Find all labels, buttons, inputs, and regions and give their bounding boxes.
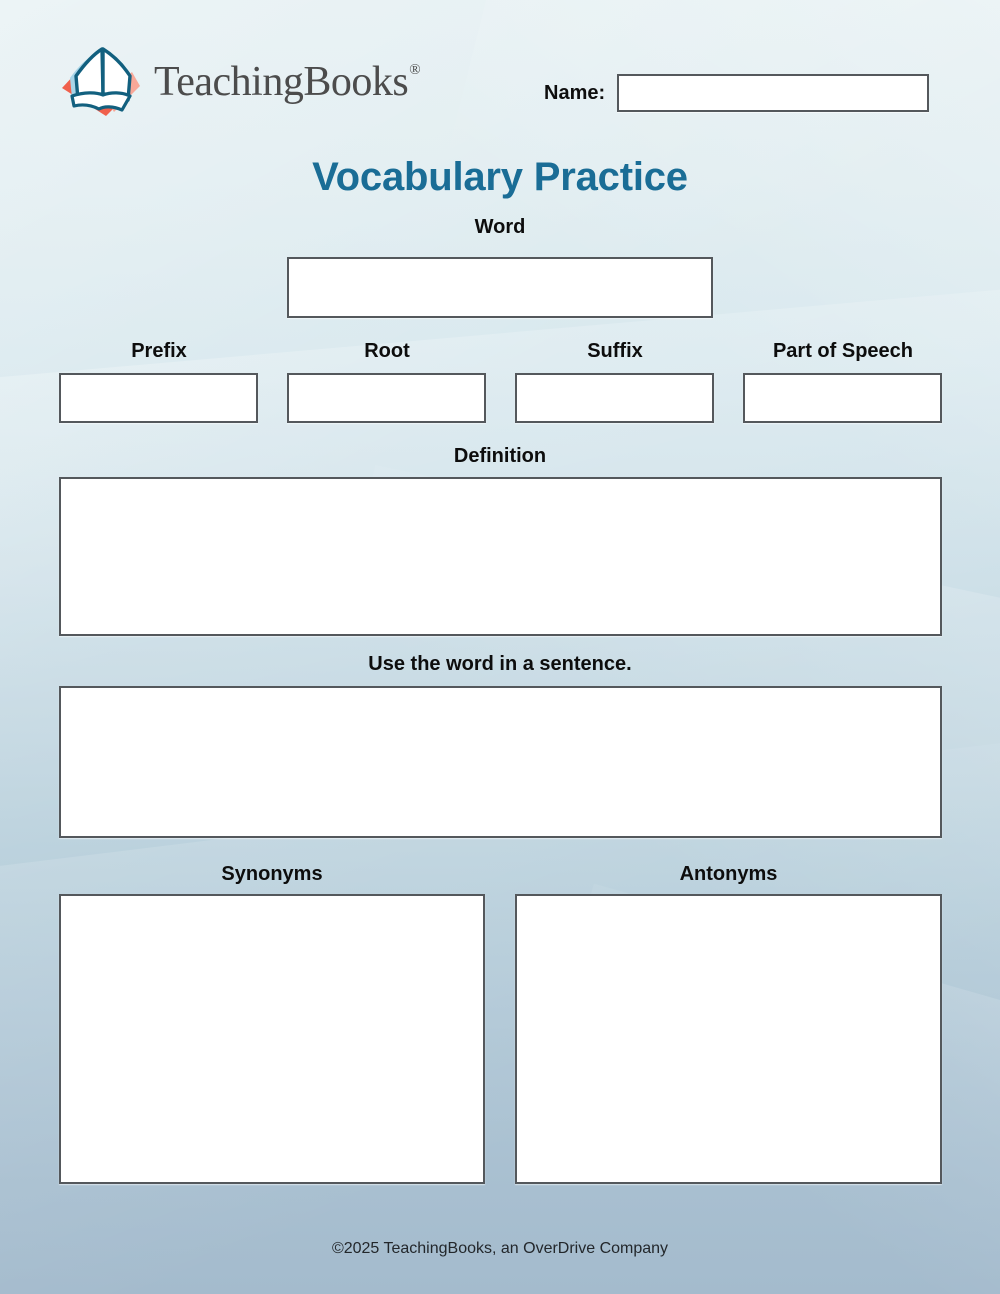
registered-trademark-icon: ® bbox=[409, 62, 420, 78]
prefix-input[interactable] bbox=[59, 373, 258, 423]
word-input[interactable] bbox=[287, 257, 713, 318]
antonyms-label: Antonyms bbox=[515, 863, 942, 886]
suffix-input[interactable] bbox=[515, 373, 714, 423]
definition-label: Definition bbox=[0, 445, 1000, 468]
synonyms-input[interactable] bbox=[59, 894, 485, 1184]
logo-wordmark-text: TeachingBooks bbox=[154, 59, 408, 105]
logo-wordmark: TeachingBooks® bbox=[154, 58, 419, 106]
copyright-footer: ©2025 TeachingBooks, an OverDrive Compan… bbox=[0, 1240, 1000, 1258]
worksheet-page: TeachingBooks® Name: Vocabulary Practice… bbox=[0, 0, 1000, 1294]
part-of-speech-input[interactable] bbox=[743, 373, 942, 423]
suffix-label: Suffix bbox=[515, 340, 715, 363]
name-label: Name: bbox=[544, 82, 605, 105]
sentence-input[interactable] bbox=[59, 686, 942, 838]
synonyms-label: Synonyms bbox=[59, 863, 485, 886]
page-header: TeachingBooks® Name: bbox=[0, 0, 1000, 140]
teachingbooks-logo: TeachingBooks® bbox=[58, 42, 419, 120]
sentence-label: Use the word in a sentence. bbox=[0, 653, 1000, 676]
name-row: Name: bbox=[544, 74, 929, 112]
definition-input[interactable] bbox=[59, 477, 942, 636]
page-title: Vocabulary Practice bbox=[0, 155, 1000, 200]
root-label: Root bbox=[287, 340, 487, 363]
root-input[interactable] bbox=[287, 373, 486, 423]
name-input[interactable] bbox=[617, 74, 929, 112]
open-book-icon bbox=[58, 42, 144, 120]
prefix-label: Prefix bbox=[59, 340, 259, 363]
part-of-speech-label: Part of Speech bbox=[743, 340, 943, 363]
antonyms-input[interactable] bbox=[515, 894, 942, 1184]
word-label: Word bbox=[0, 216, 1000, 239]
